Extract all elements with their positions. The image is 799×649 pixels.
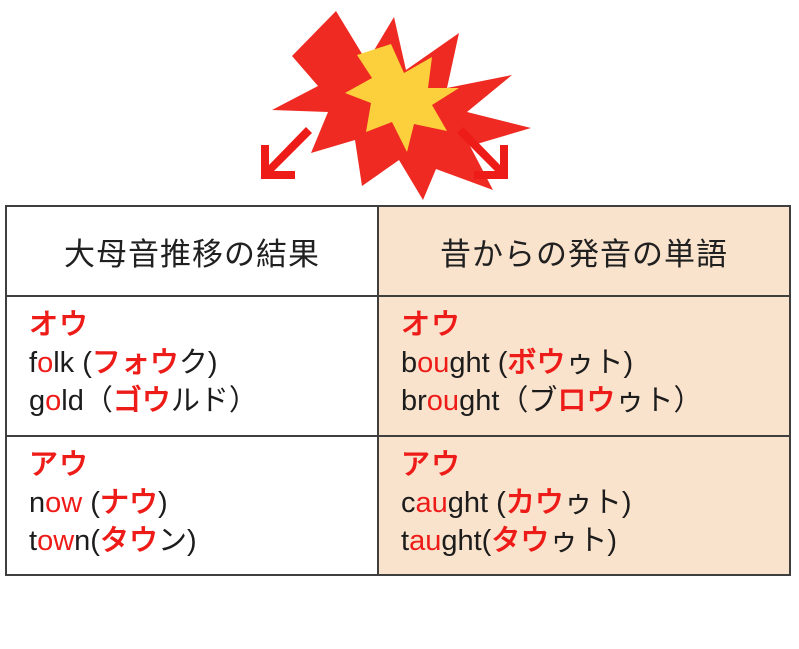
header-label-right: 昔からの発音の単語 bbox=[440, 237, 728, 272]
highlight-text: ou bbox=[427, 385, 459, 417]
word-line: bought (ボウゥト) bbox=[401, 344, 789, 382]
plain-text: ght bbox=[449, 347, 497, 379]
plain-text: f bbox=[29, 347, 37, 379]
highlight-text: タウ bbox=[491, 525, 549, 557]
vowel-shift-table: 大母音推移の結果 昔からの発音の単語 オウ folk (フォウク)gold（ゴウ… bbox=[5, 205, 791, 576]
word-list: folk (フォウク)gold（ゴウルド） bbox=[29, 344, 377, 421]
plain-text: ( bbox=[482, 525, 492, 557]
highlight-text: ou bbox=[417, 347, 449, 379]
plain-text: ゥト bbox=[565, 347, 623, 379]
header-label-left: 大母音推移の結果 bbox=[64, 237, 320, 272]
highlight-text: フォウ bbox=[92, 347, 179, 379]
plain-text: ク bbox=[179, 347, 208, 379]
plain-text: （ bbox=[499, 385, 528, 417]
highlight-text: au bbox=[409, 525, 441, 557]
highlight-text: ow bbox=[37, 525, 74, 557]
highlight-text: ロウ bbox=[557, 385, 615, 417]
highlight-text: o bbox=[37, 347, 53, 379]
word-list: bought (ボウゥト)brought（ブロウゥト） bbox=[401, 344, 789, 421]
cue-label: アウ bbox=[401, 447, 789, 484]
cell-shift-au: アウ now (ナウ)town(タウン) bbox=[6, 436, 378, 576]
word-line: folk (フォウク) bbox=[29, 344, 377, 382]
plain-text: ( bbox=[90, 525, 100, 557]
word-line: town(タウン) bbox=[29, 522, 377, 560]
table-row: アウ now (ナウ)town(タウン) アウ caught (カウゥト)tau… bbox=[6, 436, 790, 576]
plain-text: lk bbox=[53, 347, 82, 379]
plain-text: n bbox=[29, 487, 45, 519]
plain-text: ) bbox=[607, 525, 617, 557]
plain-text: ゥト bbox=[564, 487, 622, 519]
plain-text: ) bbox=[187, 525, 197, 557]
plain-text: ld bbox=[61, 385, 84, 417]
highlight-text: カウ bbox=[506, 487, 564, 519]
highlight-text: ボウ bbox=[507, 347, 565, 379]
word-line: gold（ゴウルド） bbox=[29, 382, 377, 420]
plain-text: c bbox=[401, 487, 416, 519]
plain-text: ) bbox=[208, 347, 218, 379]
highlight-text: ow bbox=[45, 487, 82, 519]
word-line: taught(タウゥト) bbox=[401, 522, 789, 560]
cue-label: オウ bbox=[29, 307, 377, 344]
table-header-row: 大母音推移の結果 昔からの発音の単語 bbox=[6, 206, 790, 296]
collision-graphic bbox=[0, 0, 799, 200]
arrow-down-left-icon bbox=[261, 127, 312, 179]
highlight-text: ゴウ bbox=[113, 385, 171, 417]
highlight-text: タウ bbox=[100, 525, 158, 557]
plain-text: ght bbox=[459, 385, 499, 417]
plain-text: ( bbox=[498, 347, 508, 379]
plain-text: g bbox=[29, 385, 45, 417]
plain-text: br bbox=[401, 385, 427, 417]
plain-text: ( bbox=[82, 347, 92, 379]
plain-text: ( bbox=[82, 487, 100, 519]
cue-label: アウ bbox=[29, 447, 377, 484]
plain-text: ゥト bbox=[549, 525, 607, 557]
highlight-text: au bbox=[416, 487, 448, 519]
plain-text: ) bbox=[623, 347, 633, 379]
plain-text: ght bbox=[448, 487, 496, 519]
plain-text: ） bbox=[673, 385, 702, 417]
table-row: オウ folk (フォウク)gold（ゴウルド） オウ bought (ボウゥト… bbox=[6, 296, 790, 436]
plain-text: ght bbox=[441, 525, 481, 557]
cell-shift-ou: オウ folk (フォウク)gold（ゴウルド） bbox=[6, 296, 378, 436]
plain-text: ン bbox=[158, 525, 187, 557]
plain-text: ) bbox=[622, 487, 632, 519]
plain-text: ゥト bbox=[615, 385, 673, 417]
plain-text: t bbox=[401, 525, 409, 557]
plain-text: （ bbox=[84, 385, 113, 417]
highlight-text: ナウ bbox=[100, 487, 158, 519]
plain-text: ( bbox=[496, 487, 506, 519]
cell-old-ou: オウ bought (ボウゥト)brought（ブロウゥト） bbox=[378, 296, 790, 436]
highlight-text: o bbox=[45, 385, 61, 417]
word-line: caught (カウゥト) bbox=[401, 484, 789, 522]
plain-text: b bbox=[401, 347, 417, 379]
plain-text: ルド bbox=[171, 385, 229, 417]
plain-text: t bbox=[29, 525, 37, 557]
word-list: now (ナウ)town(タウン) bbox=[29, 484, 377, 561]
plain-text: ブ bbox=[528, 385, 557, 417]
word-line: now (ナウ) bbox=[29, 484, 377, 522]
header-cell-old-pronunciation: 昔からの発音の単語 bbox=[378, 206, 790, 296]
plain-text: n bbox=[74, 525, 90, 557]
word-line: brought（ブロウゥト） bbox=[401, 382, 789, 420]
plain-text: ） bbox=[229, 385, 258, 417]
header-cell-great-vowel-shift: 大母音推移の結果 bbox=[6, 206, 378, 296]
word-list: caught (カウゥト)taught(タウゥト) bbox=[401, 484, 789, 561]
cue-label: オウ bbox=[401, 307, 789, 344]
cell-old-au: アウ caught (カウゥト)taught(タウゥト) bbox=[378, 436, 790, 576]
plain-text: ) bbox=[158, 487, 168, 519]
